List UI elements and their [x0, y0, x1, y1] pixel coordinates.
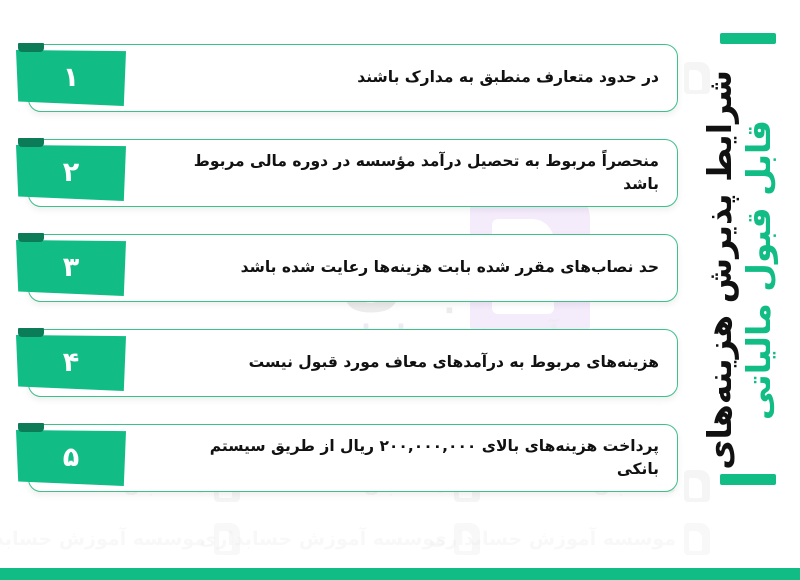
condition-number: ۴ [63, 349, 79, 376]
condition-number: ۳ [63, 254, 79, 281]
page-title: قابل قبول مالیاتی شرایط پذیرش هزینه‌های [680, 60, 800, 480]
page-title-main-line: شرایط پذیرش هزینه‌های [701, 70, 740, 470]
bookmark-tab-icon [18, 138, 44, 147]
condition-number: ۲ [63, 159, 79, 186]
accent-bar-bottom [720, 474, 776, 485]
condition-number: ۵ [63, 444, 79, 471]
list-item: در حدود متعارف منطبق به مدارک باشند ۱ [28, 44, 678, 112]
condition-number-badge: ۴ [16, 335, 126, 391]
list-item: هزینه‌های مربوط به درآمدهای معاف مورد قب… [28, 329, 678, 397]
accent-bar-top [720, 33, 776, 44]
condition-text: حد نصاب‌های مقرر شده بابت هزینه‌ها رعایت… [29, 256, 677, 279]
title-column: قابل قبول مالیاتی شرایط پذیرش هزینه‌های [680, 0, 800, 580]
condition-text: منحصراً مربوط به تحصیل درآمد مؤسسه در دو… [29, 150, 677, 197]
bookmark-tab-icon [18, 43, 44, 52]
bookmark-tab-icon [18, 233, 44, 242]
condition-number-badge: ۲ [16, 145, 126, 201]
bottom-accent-strip [0, 568, 800, 580]
page-title-accent-line: قابل قبول مالیاتی [740, 120, 779, 420]
condition-number-badge: ۵ [16, 430, 126, 486]
condition-number-badge: ۳ [16, 240, 126, 296]
list-item: حد نصاب‌های مقرر شده بابت هزینه‌ها رعایت… [28, 234, 678, 302]
list-item: پرداخت هزینه‌های بالای ۲۰۰,۰۰۰,۰۰۰ ریال … [28, 424, 678, 492]
condition-text: هزینه‌های مربوط به درآمدهای معاف مورد قب… [29, 351, 677, 374]
bookmark-tab-icon [18, 328, 44, 337]
conditions-list: در حدود متعارف منطبق به مدارک باشند ۱ من… [0, 0, 700, 580]
condition-number: ۱ [63, 64, 79, 91]
condition-number-badge: ۱ [16, 50, 126, 106]
bookmark-tab-icon [18, 423, 44, 432]
list-item: منحصراً مربوط به تحصیل درآمد مؤسسه در دو… [28, 139, 678, 207]
condition-text: در حدود متعارف منطبق به مدارک باشند [29, 66, 677, 89]
condition-text: پرداخت هزینه‌های بالای ۲۰۰,۰۰۰,۰۰۰ ریال … [29, 435, 677, 482]
